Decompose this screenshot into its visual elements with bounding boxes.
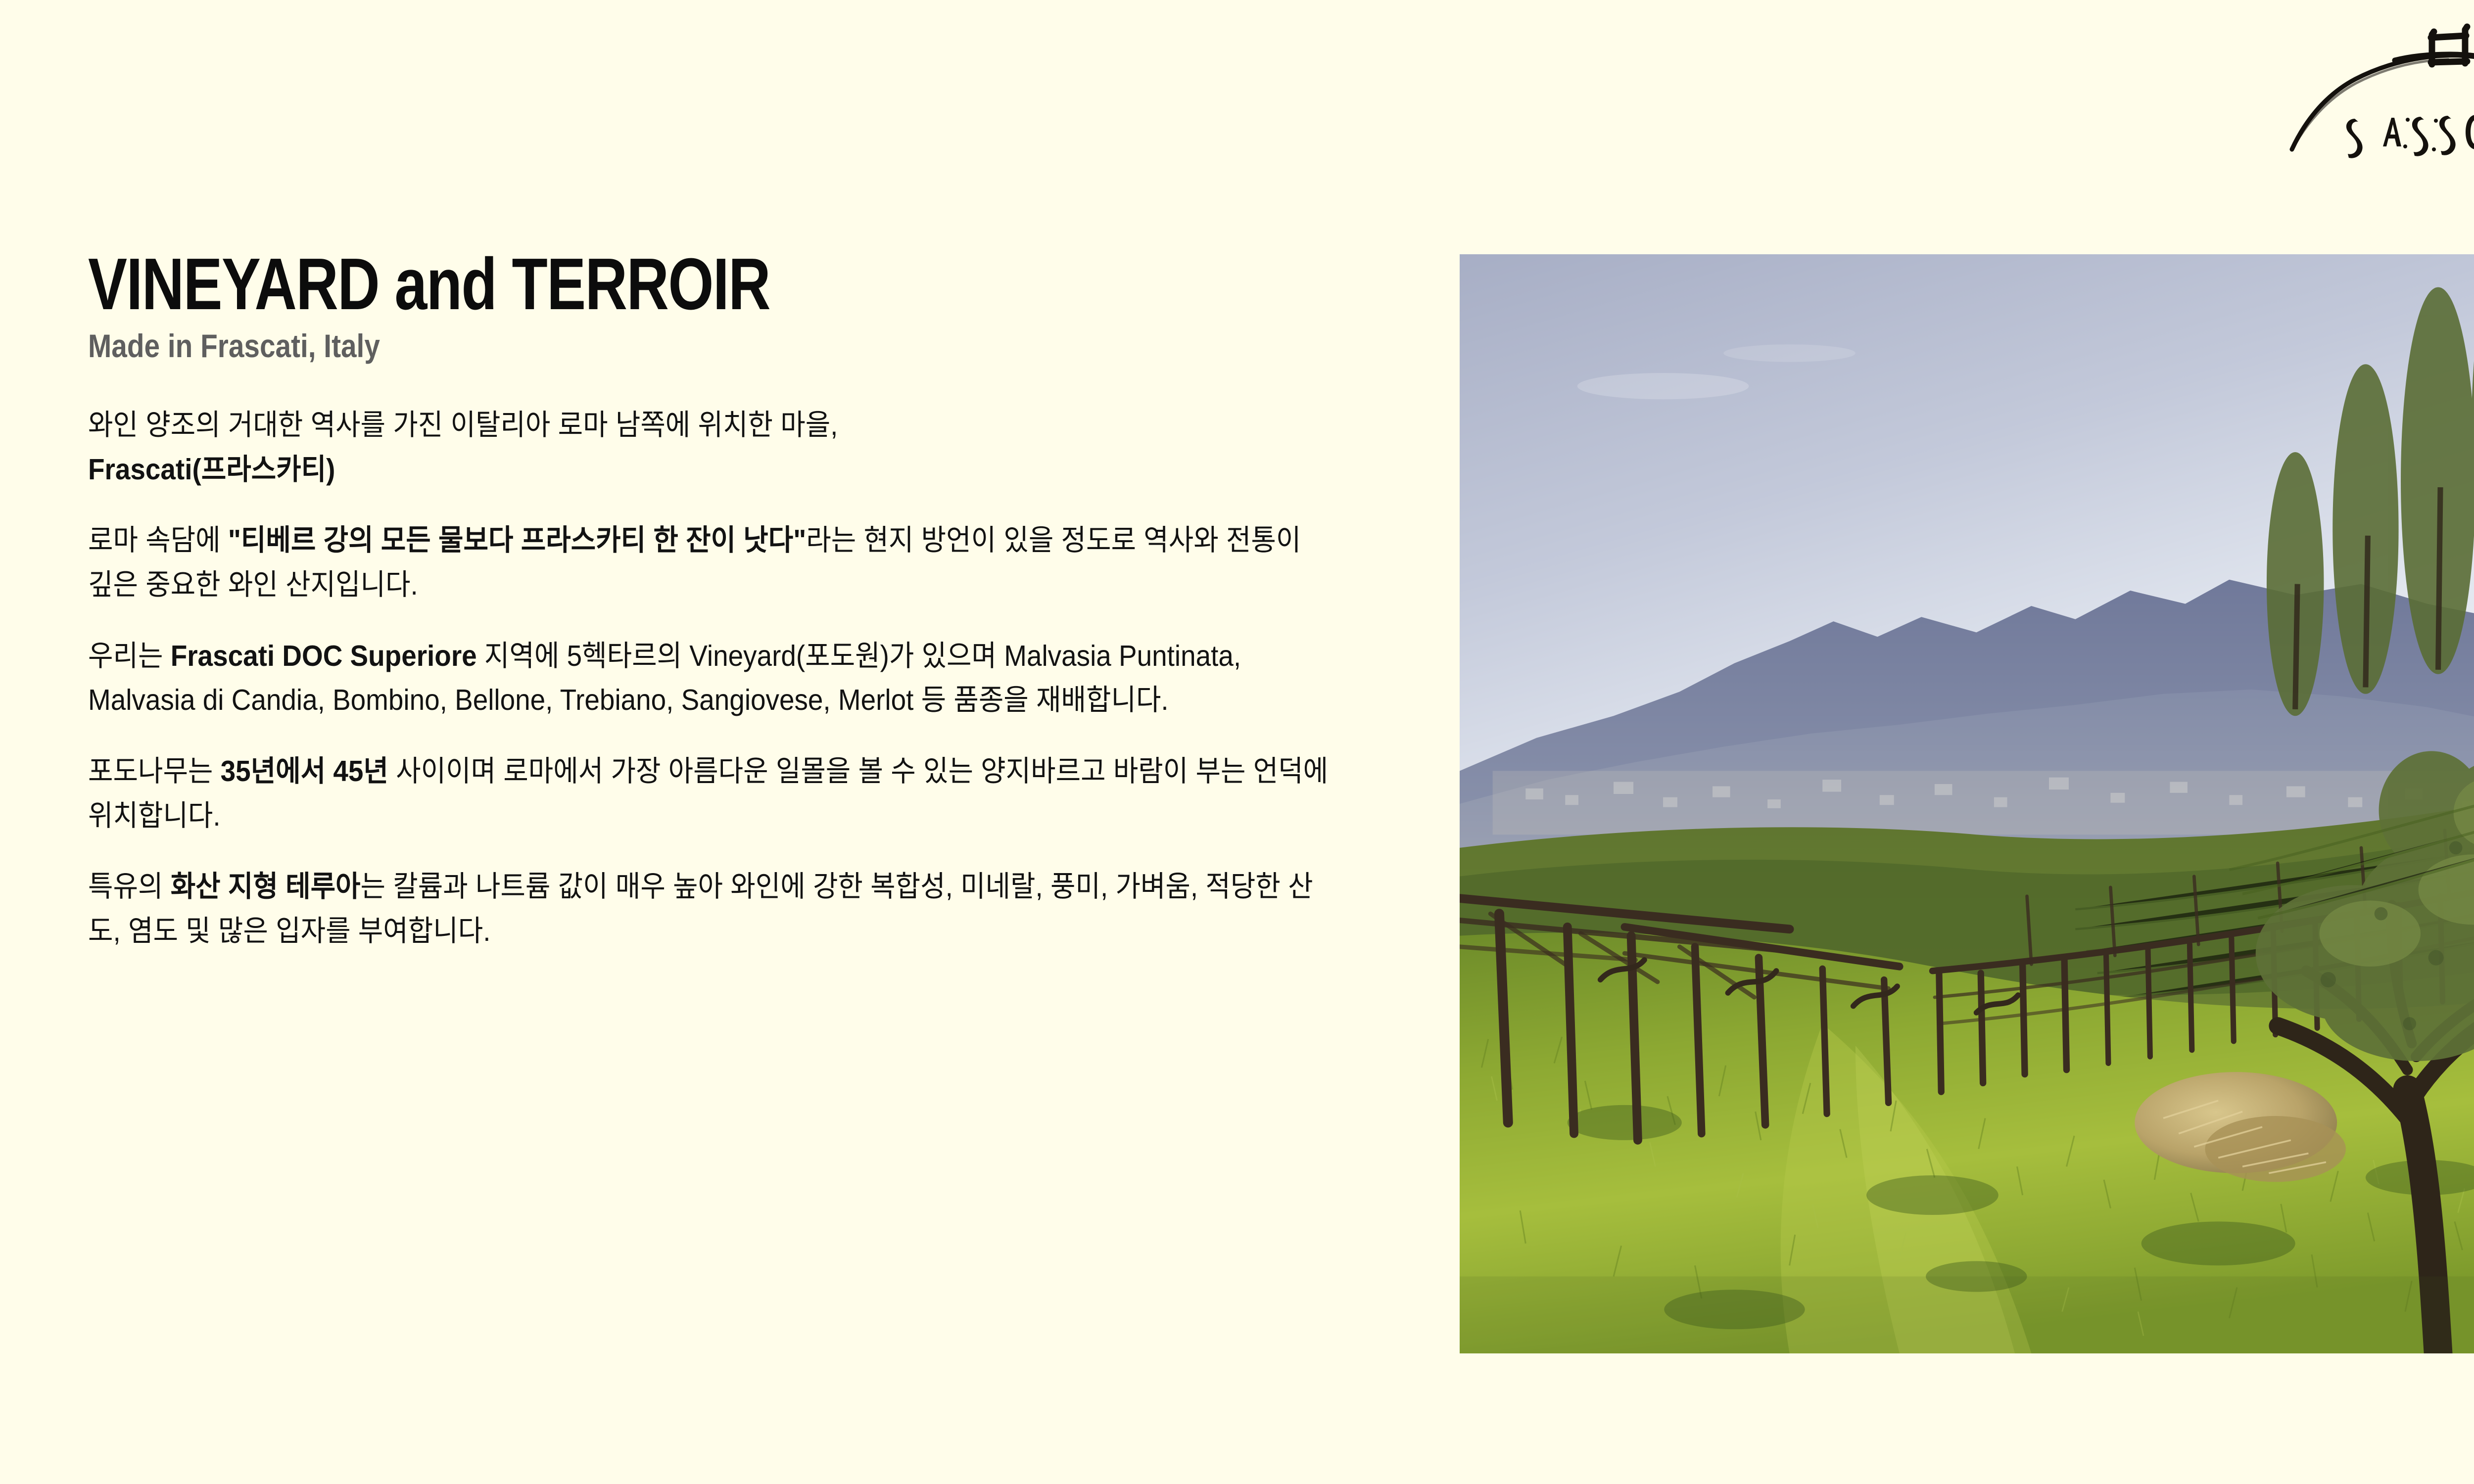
paragraph-intro: 와인 양조의 거대한 역사를 가진 이탈리아 로마 남쪽에 위치한 마을,Fra… xyxy=(88,403,1331,492)
paragraph-vineyard: 우리는 Frascati DOC Superiore 지역에 5헥타르의 Vin… xyxy=(88,634,1331,723)
sassopra-logo xyxy=(2281,22,2474,170)
page-title: VINEYARD and TERROIR xyxy=(88,247,1086,322)
logo-wordmark xyxy=(2346,115,2474,158)
paragraph-proverb: 로마 속담에 "티베르 강의 모든 물보다 프라스카티 한 잔이 낫다"라는 현… xyxy=(88,518,1331,607)
paragraph-vines: 포도나무는 35년에서 45년 사이이며 로마에서 가장 아름다운 일몰을 볼 … xyxy=(88,749,1331,838)
paragraph-terroir: 특유의 화산 지형 테루아는 칼륨과 나트륨 값이 매우 높아 와인에 강한 복… xyxy=(88,865,1331,953)
vineyard-photograph xyxy=(1460,254,2474,1353)
text-column: VINEYARD and TERROIR Made in Frascati, I… xyxy=(88,247,1335,954)
logo-house-icon xyxy=(2395,27,2474,64)
photo-hill-town xyxy=(1493,771,2474,835)
logo-hill-arc xyxy=(2292,55,2474,149)
page-subtitle: Made in Frascati, Italy xyxy=(88,327,1160,365)
